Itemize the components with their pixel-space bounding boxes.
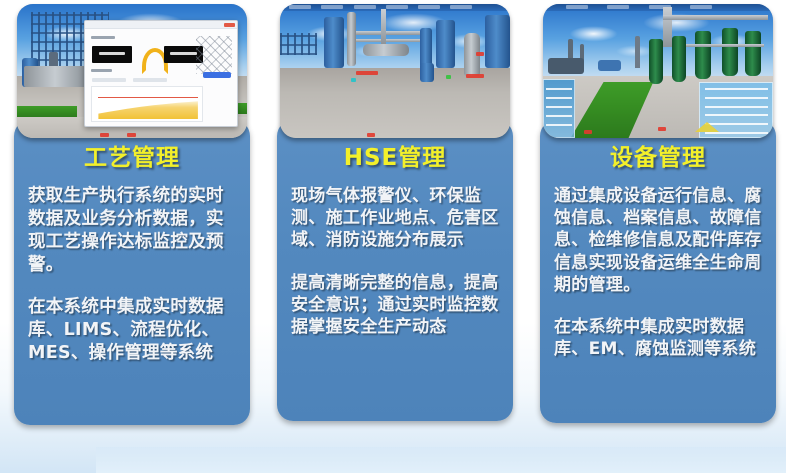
feature-card-equipment-management[interactable]: 设备管理 通过集成设备运行信息、腐蚀信息、档案信息、故障信息、检维修信息及配件库… <box>540 4 776 463</box>
feature-card-deck: 工艺管理 获取生产执行系统的实时数据及业务分析数据，实现工艺操作达标监控及预警。… <box>0 0 786 473</box>
panel-process-management: 工艺管理 获取生产执行系统的实时数据及业务分析数据，实现工艺操作达标监控及预警。… <box>14 120 250 425</box>
panel-equipment-management: 设备管理 通过集成设备运行信息、腐蚀信息、档案信息、故障信息、检维修信息及配件库… <box>540 120 776 423</box>
card-title-hse-management: HSE管理 <box>291 146 499 171</box>
thumbnail-process-management <box>17 4 247 138</box>
scene-menubar-icon <box>543 4 773 11</box>
card-paragraph-1: 现场气体报警仪、环保监测、施工作业地点、危害区域、消防设施分布展示 <box>291 185 499 251</box>
card-paragraph-1: 通过集成设备运行信息、腐蚀信息、档案信息、故障信息、检维修信息及配件库存信息实现… <box>554 185 762 295</box>
embedded-dashboard-window <box>84 20 238 127</box>
thumbnail-hse-management <box>280 4 510 138</box>
thumbnail-equipment-management <box>543 4 773 138</box>
feature-card-hse-management[interactable]: HSE管理 现场气体报警仪、环保监测、施工作业地点、危害区域、消防设施分布展示 … <box>277 4 513 463</box>
card-paragraph-2: 在本系统中集成实时数据库、LIMS、流程优化、MES、操作管理等系统 <box>28 296 236 364</box>
scene-menubar-icon <box>280 4 510 11</box>
feature-card-process-management[interactable]: 工艺管理 获取生产执行系统的实时数据及业务分析数据，实现工艺操作达标监控及预警。… <box>14 4 250 463</box>
card-paragraph-1: 获取生产执行系统的实时数据及业务分析数据，实现工艺操作达标监控及预警。 <box>28 185 236 276</box>
scene-warning-triangle-icon <box>695 122 719 132</box>
card-title-process-management: 工艺管理 <box>28 146 236 171</box>
card-paragraph-2: 在本系统中集成实时数据库、EM、腐蚀监测等系统 <box>554 316 762 360</box>
card-title-equipment-management: 设备管理 <box>554 146 762 171</box>
card-paragraph-2: 提高清晰完整的信息，提高安全意识；通过实时监控数据掌握安全生产动态 <box>291 272 499 338</box>
scene-data-panel-left <box>543 79 575 138</box>
panel-hse-management: HSE管理 现场气体报警仪、环保监测、施工作业地点、危害区域、消防设施分布展示 … <box>277 120 513 421</box>
